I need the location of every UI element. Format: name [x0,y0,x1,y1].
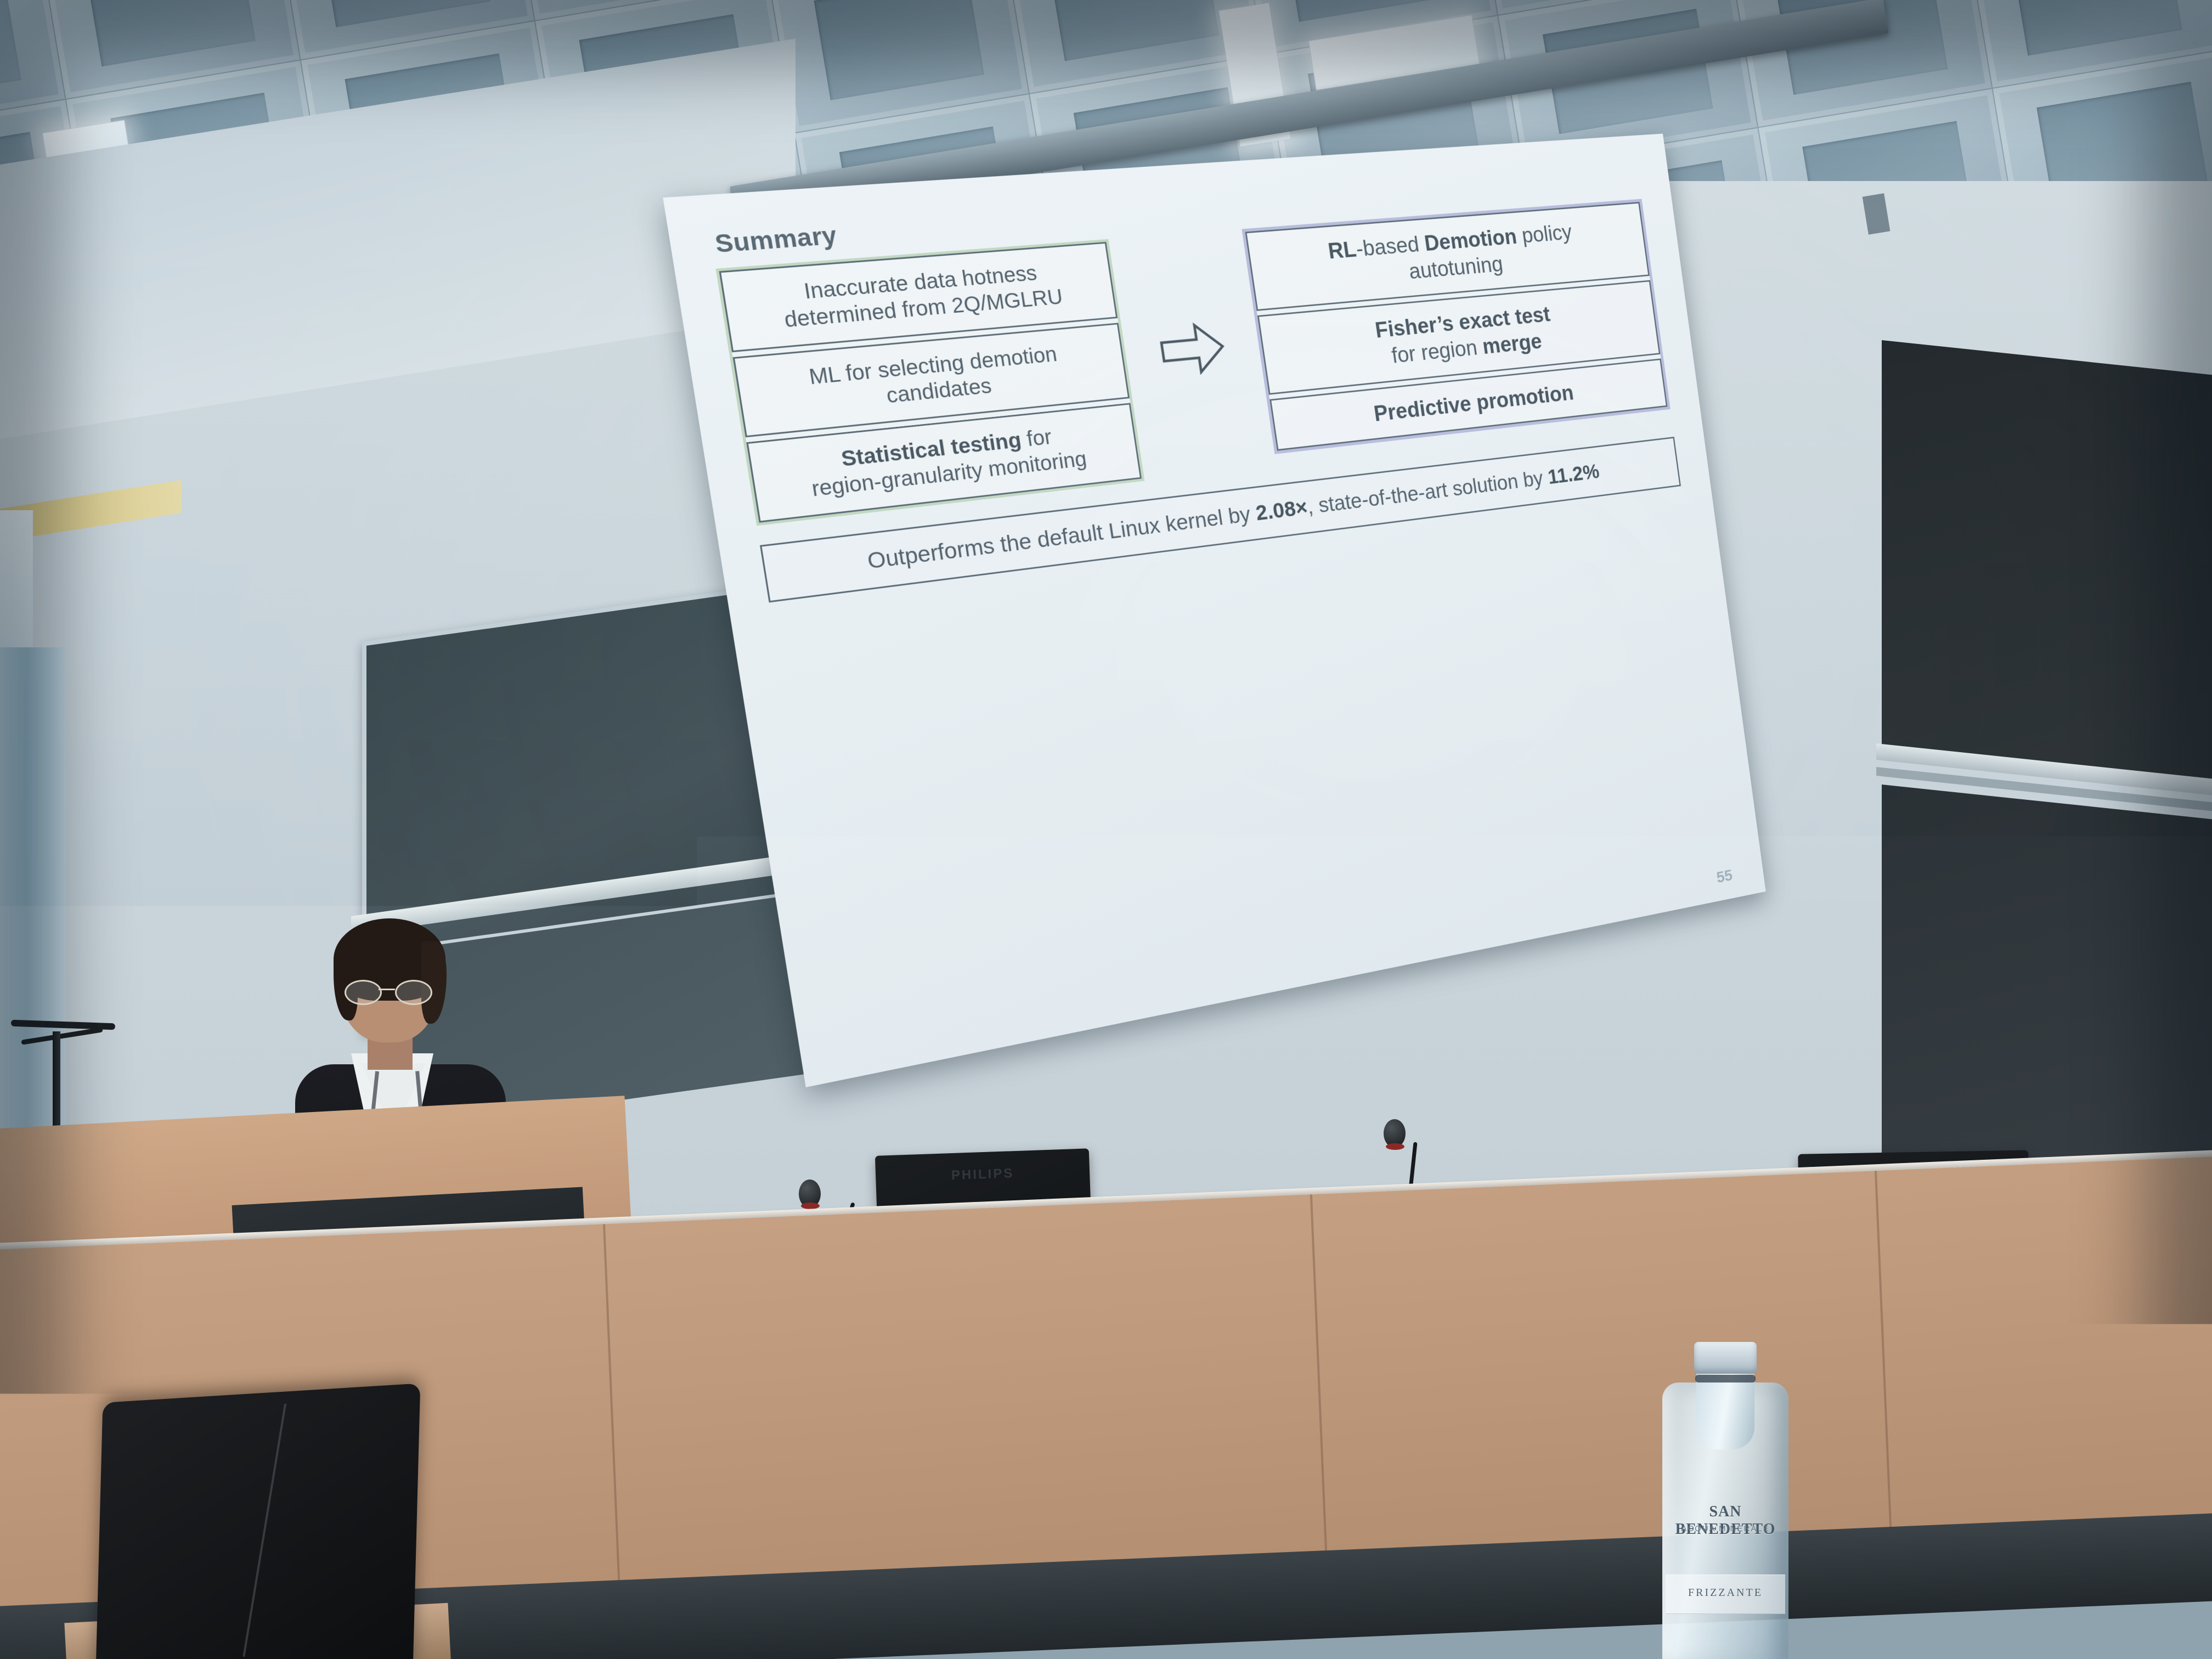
presentation-slide: Summary Inaccurate data hotness determin… [663,134,1765,1087]
projection-surface: Summary Inaccurate data hotness determin… [663,134,1765,1087]
solution-line-2-bold: merge [1481,329,1543,359]
solution-text-2: policy [1515,220,1573,248]
bottle-neck-ring [1695,1375,1756,1383]
projection-screen: Summary Inaccurate data hotness determin… [735,198,1832,1097]
banner-part-1: Outperforms the default Linux kernel by [866,501,1258,573]
window [0,510,33,664]
box-line-1-plain: for [1019,426,1053,452]
solution-keyword-1: RL [1327,237,1358,263]
solution-keyword-1: Predictive promotion [1372,381,1575,426]
water-bottle: SAN BENEDETTO ACQUA MINERALE FRIZZANTE [1662,1339,1788,1659]
banner-part-2: , state-of-the-art solution by [1306,466,1550,518]
right-arrow-icon [1156,318,1229,381]
microphone-ring [1386,1143,1404,1150]
banner-metric-2: 11.2% [1547,460,1601,488]
bottle-subtitle-text: ACQUA MINERALE [1662,1524,1788,1533]
solution-keyword-2: Demotion [1423,224,1519,256]
solution-line-2: autotuning [1407,252,1504,284]
slide-number: 55 [1716,866,1734,887]
laptop-crease [242,1404,286,1657]
solutions-group: RL-based Demotion policy autotuning Fish… [1242,199,1670,454]
bottle-variant-text: FRIZZANTE [1662,1587,1788,1599]
laptop-lid [95,1383,421,1659]
problems-column: Inaccurate data hotness determined from … [716,239,1145,526]
solutions-column: RL-based Demotion policy autotuning Fish… [1242,199,1670,454]
flow-arrow-cell [1138,231,1234,381]
problems-group: Inaccurate data hotness determined from … [716,239,1145,526]
photo-scene: Summary Inaccurate data hotness determin… [0,0,2212,1659]
eyeglasses-icon [342,980,436,1002]
banner-metric-1: 2.08× [1254,495,1309,524]
bottle-cap [1694,1342,1757,1374]
right-wall-board [1882,340,2212,794]
solution-text-1: -based [1355,232,1426,261]
